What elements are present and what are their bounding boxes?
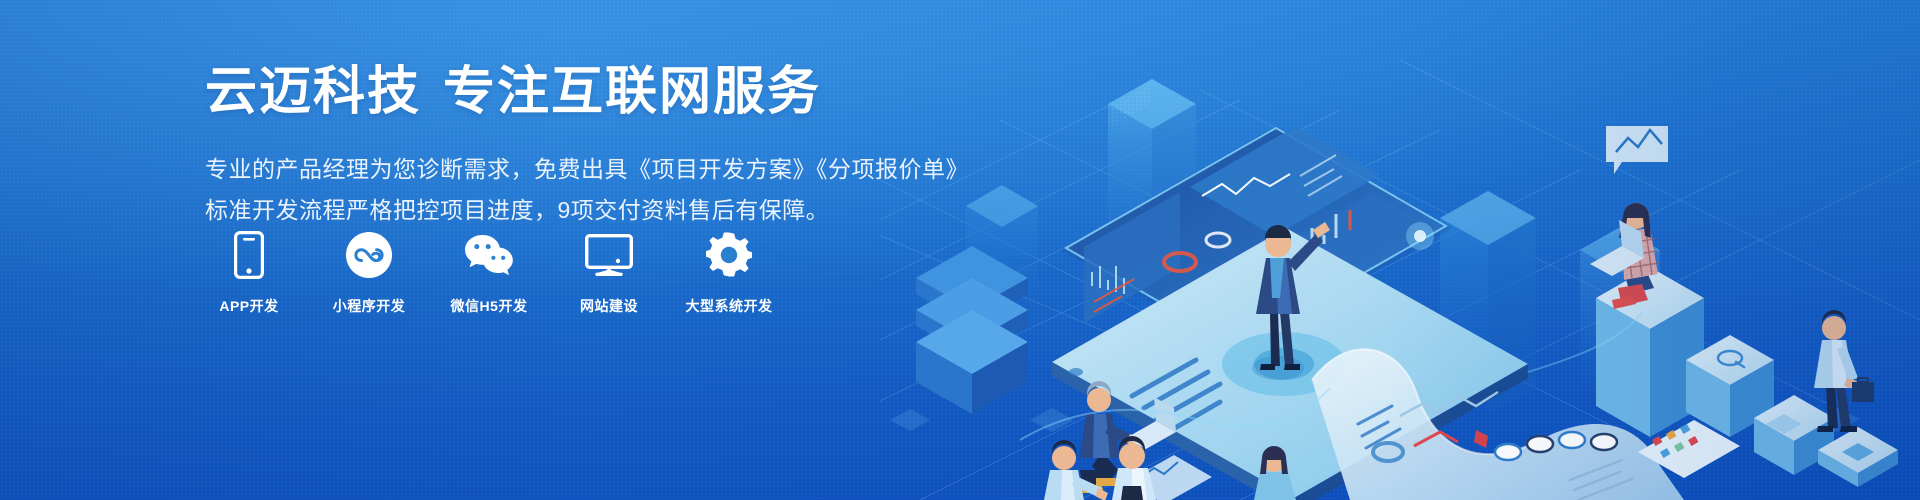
- server-stack: [916, 246, 1028, 414]
- monitor-icon: [565, 228, 653, 282]
- gear-icon: [685, 228, 773, 282]
- service-label: 小程序开发: [333, 296, 406, 316]
- service-label: 微信H5开发: [451, 296, 528, 316]
- service-label: 网站建设: [580, 296, 638, 316]
- service-label: APP开发: [219, 296, 278, 316]
- mobile-phone-icon: [205, 228, 293, 282]
- headline-tagline: 专注互联网服务: [443, 63, 821, 121]
- service-item-wechat-h5[interactable]: 微信H5开发: [445, 228, 533, 316]
- mini-program-icon: [325, 228, 413, 282]
- service-label: 大型系统开发: [686, 296, 773, 316]
- hero-banner: 云迈科技专注互联网服务 专业的产品经理为您诊断需求，免费出具《项目开发方案》《分…: [0, 0, 1920, 500]
- floating-chart-bubble: [1606, 126, 1668, 174]
- hero-illustration: [880, 0, 1920, 500]
- wechat-bubbles-icon: [445, 228, 533, 282]
- page-title: 云迈科技专注互联网服务: [205, 62, 925, 123]
- hero-subtitle: 专业的产品经理为您诊断需求，免费出具《项目开发方案》《分项报价单》 标准开发流程…: [205, 149, 925, 230]
- subtitle-line-1: 专业的产品经理为您诊断需求，免费出具《项目开发方案》《分项报价单》: [205, 149, 925, 189]
- hero-copy: 云迈科技专注互联网服务 专业的产品经理为您诊断需求，免费出具《项目开发方案》《分…: [205, 62, 925, 230]
- service-item-website[interactable]: 网站建设: [565, 228, 653, 316]
- service-list: APP开发 小程序开发: [205, 228, 773, 316]
- service-item-miniprogram[interactable]: 小程序开发: [325, 228, 413, 316]
- service-item-large-system[interactable]: 大型系统开发: [685, 228, 773, 316]
- service-item-app[interactable]: APP开发: [205, 228, 293, 316]
- headline-brand: 云迈科技: [205, 63, 421, 121]
- subtitle-line-2: 标准开发流程严格把控项目进度，9项交付资料售后有保障。: [205, 190, 925, 230]
